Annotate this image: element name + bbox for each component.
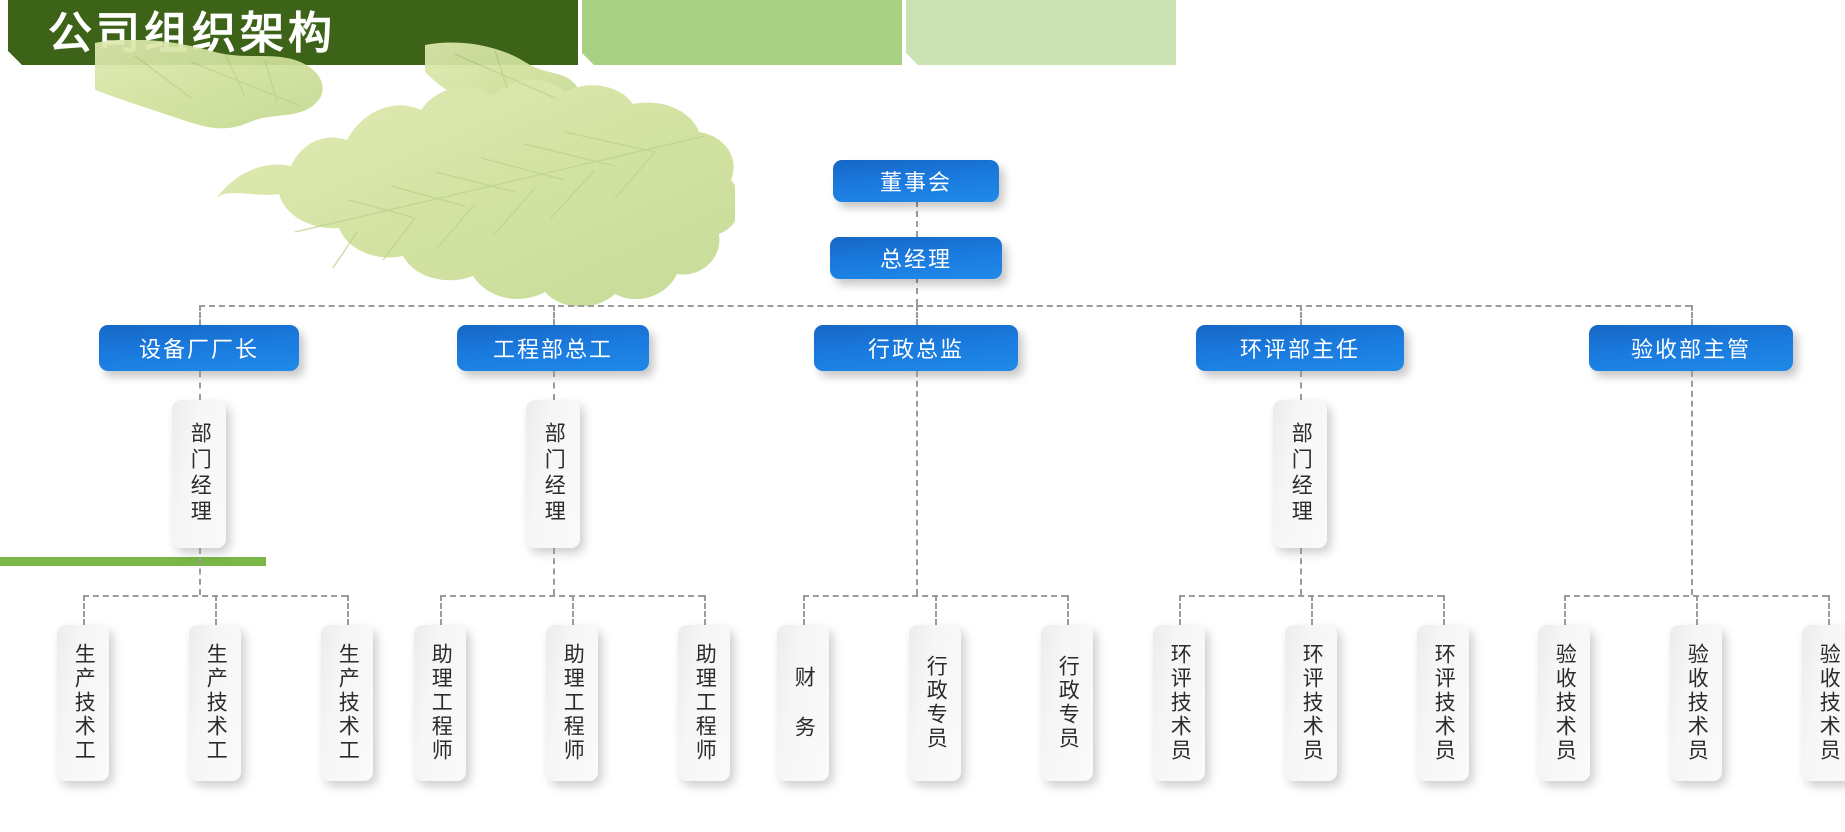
- department-head-3[interactable]: 环评部主任: [1196, 325, 1404, 371]
- org-chart-canvas: 公司组织架构: [0, 0, 1845, 832]
- connector-bar-to-staff-0-0: [83, 595, 85, 625]
- connector-manager-to-bar-1: [553, 548, 555, 595]
- staff-node-4-0[interactable]: 验收技术员: [1538, 625, 1590, 781]
- connector-bar-to-staff-1-2: [704, 595, 706, 625]
- banner-segment-light: [906, 0, 1176, 65]
- staff-node-2-0[interactable]: 财 务: [777, 625, 829, 781]
- connector-bar-to-staff-3-0: [1179, 595, 1181, 625]
- department-head-0[interactable]: 设备厂厂长: [99, 325, 299, 371]
- staff-node-2-2[interactable]: 行政专员: [1041, 625, 1093, 781]
- connector-bar-to-staff-2-1: [935, 595, 937, 625]
- connector-bar-to-staff-3-2: [1443, 595, 1445, 625]
- staff-node-3-2[interactable]: 环评技术员: [1417, 625, 1469, 781]
- banner-segment-mid: [582, 0, 902, 65]
- connector-gm-to-bus: [916, 277, 918, 305]
- staff-node-0-1[interactable]: 生产技术工: [189, 625, 241, 781]
- department-manager-3[interactable]: 部门经理: [1273, 400, 1327, 548]
- connector-head-to-manager-0: [199, 371, 201, 400]
- connector-bus-to-head-3: [1300, 305, 1302, 325]
- connector-manager-to-bar-0: [199, 548, 201, 595]
- connector-bar-to-staff-1-0: [440, 595, 442, 625]
- staff-node-4-2[interactable]: 验收技术员: [1802, 625, 1845, 781]
- top-node-board[interactable]: 董事会: [833, 160, 999, 202]
- connector-bus-to-head-0: [199, 305, 201, 325]
- staff-node-1-1[interactable]: 助理工程师: [546, 625, 598, 781]
- connector-bar-to-staff-4-0: [1564, 595, 1566, 625]
- connector-bus-to-head-1: [553, 305, 555, 325]
- connector-bar-to-staff-3-1: [1311, 595, 1313, 625]
- connector-bus-to-head-4: [1691, 305, 1693, 325]
- page-title: 公司组织架构: [48, 6, 336, 62]
- staff-node-2-1[interactable]: 行政专员: [909, 625, 961, 781]
- connector-bar-to-staff-2-0: [803, 595, 805, 625]
- oak-leaf-watermark-icon: [95, 40, 735, 310]
- connector-bus-to-head-2: [916, 305, 918, 325]
- department-manager-1[interactable]: 部门经理: [526, 400, 580, 548]
- connector-bar-to-staff-0-2: [347, 595, 349, 625]
- staff-node-3-1[interactable]: 环评技术员: [1285, 625, 1337, 781]
- staff-node-4-1[interactable]: 验收技术员: [1670, 625, 1722, 781]
- connector-head-to-manager-1: [553, 371, 555, 400]
- staff-node-1-0[interactable]: 助理工程师: [414, 625, 466, 781]
- top-node-general-manager[interactable]: 总经理: [830, 237, 1002, 279]
- connector-board-to-gm: [916, 201, 918, 237]
- connector-bar-to-staff-4-2: [1828, 595, 1830, 625]
- connector-department-bus: [199, 305, 1691, 307]
- connector-head-to-manager-3: [1300, 371, 1302, 400]
- staff-node-0-0[interactable]: 生产技术工: [57, 625, 109, 781]
- staff-node-1-2[interactable]: 助理工程师: [678, 625, 730, 781]
- connector-bar-to-staff-4-1: [1696, 595, 1698, 625]
- department-head-4[interactable]: 验收部主管: [1589, 325, 1793, 371]
- connector-head-to-bar-2: [916, 371, 918, 595]
- connector-bar-to-staff-0-1: [215, 595, 217, 625]
- department-head-2[interactable]: 行政总监: [814, 325, 1018, 371]
- staff-node-0-2[interactable]: 生产技术工: [321, 625, 373, 781]
- connector-bar-to-staff-1-1: [572, 595, 574, 625]
- connector-head-to-bar-4: [1691, 371, 1693, 595]
- accent-bar: [0, 557, 266, 566]
- connector-bar-to-staff-2-2: [1067, 595, 1069, 625]
- staff-node-3-0[interactable]: 环评技术员: [1153, 625, 1205, 781]
- department-head-1[interactable]: 工程部总工: [457, 325, 649, 371]
- department-manager-0[interactable]: 部门经理: [172, 400, 226, 548]
- connector-manager-to-bar-3: [1300, 548, 1302, 595]
